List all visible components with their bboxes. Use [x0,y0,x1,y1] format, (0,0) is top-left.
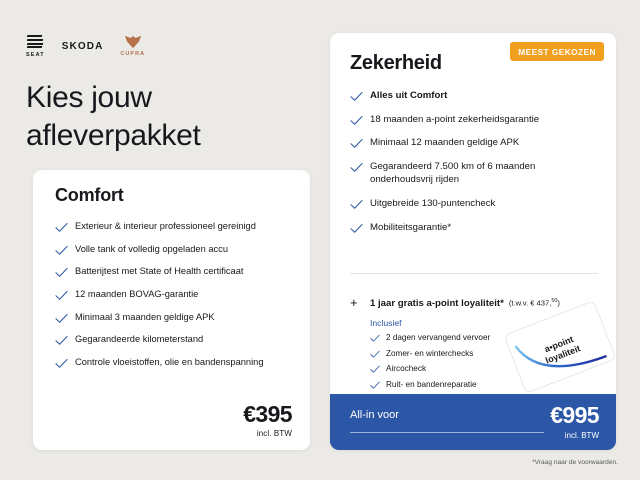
zekerheid-feature-list: Alles uit Comfort 18 maanden a-point zek… [350,89,600,244]
feature-label: Minimaal 3 maanden geldige APK [75,311,215,324]
check-icon [370,350,380,359]
zekerheid-price-note: incl. BTW [550,431,599,440]
check-icon [350,115,363,126]
list-item: Zomer- en winterchecks [370,349,550,360]
check-icon [350,91,363,102]
included-label: Aircocheck [386,364,426,375]
feature-label: Alles uit Comfort [370,89,447,103]
list-item: Alles uit Comfort [350,89,600,103]
list-item: Minimaal 3 maanden geldige APK [55,311,287,324]
bonus-value: (t.w.v. € 437,50) [509,298,560,308]
included-label: Ruit- en bandenreparatie [386,380,477,391]
feature-label: Exterieur & interieur professioneel gere… [75,220,256,233]
comfort-feature-list: Exterieur & interieur professioneel gere… [55,220,287,379]
included-list: 2 dagen vervangend vervoer Zomer- en win… [370,333,550,396]
check-icon [350,162,363,173]
feature-label: Volle tank of volledig opgeladen accu [75,243,228,256]
check-icon [370,381,380,390]
bonus-row: + 1 jaar gratis a-point loyaliteit* (t.w… [350,295,610,309]
allin-rule [350,432,544,433]
seat-wordmark: SEAT [26,52,45,58]
skoda-logo-icon: SKODA [62,41,104,52]
list-item: 18 maanden a-point zekerheidsgarantie [350,113,600,127]
check-icon [350,138,363,149]
list-item: Controle vloeistoffen, olie en bandenspa… [55,356,287,369]
feature-label: 12 maanden BOVAG-garantie [75,288,198,301]
zekerheid-price-block: €995 incl. BTW [550,404,599,440]
check-icon [55,335,68,346]
package-card-zekerheid[interactable]: MEEST GEKOZEN Zekerheid Alles uit Comfor… [330,33,616,450]
seat-logo-icon: SEAT [26,35,45,58]
included-label: Zomer- en winterchecks [386,349,473,360]
cupra-emblem-icon [124,35,142,49]
feature-label: Controle vloeistoffen, olie en bandenspa… [75,356,264,369]
skoda-wordmark: SKODA [62,41,104,52]
feature-label: Uitgebreide 130-puntencheck [370,197,495,211]
check-icon [55,290,68,301]
included-title: Inclusief [370,318,402,328]
list-item: 2 dagen vervangend vervoer [370,333,550,344]
plus-icon: + [350,296,363,309]
list-item: Aircocheck [370,364,550,375]
brand-logo-strip: SEAT SKODA CUPRA [26,33,145,59]
check-icon [370,334,380,343]
delivery-package-promo: SEAT SKODA CUPRA Kies jouw afleverpakket… [0,0,640,480]
section-divider [350,273,598,274]
list-item: Exterieur & interieur professioneel gere… [55,220,287,233]
check-icon [55,358,68,369]
comfort-price-note: incl. BTW [243,429,292,438]
list-item: Volle tank of volledig opgeladen accu [55,243,287,256]
list-item: Uitgebreide 130-puntencheck [350,197,600,211]
check-icon [55,267,68,278]
check-icon [55,313,68,324]
list-item: Batterijtest met State of Health certifi… [55,265,287,278]
feature-label: Gegarandeerd 7.500 km of 6 maanden onder… [370,160,600,187]
check-icon [55,245,68,256]
feature-label: Minimaal 12 maanden geldige APK [370,136,519,150]
package-card-comfort[interactable]: Comfort Exterieur & interieur profession… [33,170,310,450]
zekerheid-price: €995 [550,404,599,427]
bonus-value-prefix: (t.w.v. € 437, [509,299,552,308]
bonus-value-suffix: ) [557,299,560,308]
bonus-label: 1 jaar gratis a-point loyaliteit* [370,298,504,309]
feature-label: Gegarandeerde kilometerstand [75,333,203,346]
seat-emblem-icon [27,35,44,50]
comfort-price: €395 [243,403,292,426]
feature-label: Batterijtest met State of Health certifi… [75,265,243,278]
status-badge: MEEST GEKOZEN [510,42,604,61]
included-label: 2 dagen vervangend vervoer [386,333,490,344]
footnote: *Vraag naar de voorwaarden. [532,459,618,466]
list-item: Gegarandeerd 7.500 km of 6 maanden onder… [350,160,600,187]
list-item: Gegarandeerde kilometerstand [55,333,287,346]
list-item: Ruit- en bandenreparatie [370,380,550,391]
list-item: Mobiliteitsgarantie* [350,221,600,235]
check-icon [350,223,363,234]
cupra-logo-icon: CUPRA [120,35,145,57]
comfort-card-title: Comfort [55,185,124,206]
feature-label: Mobiliteitsgarantie* [370,221,451,235]
page-title: Kies jouw afleverpakket [26,79,306,155]
zekerheid-card-title: Zekerheid [350,52,442,75]
list-item: 12 maanden BOVAG-garantie [55,288,287,301]
allin-price-bar: All-in voor €995 incl. BTW [330,394,616,450]
allin-label: All-in voor [350,409,399,421]
check-icon [370,365,380,374]
feature-label: 18 maanden a-point zekerheidsgarantie [370,113,539,127]
list-item: Minimaal 12 maanden geldige APK [350,136,600,150]
cupra-wordmark: CUPRA [120,51,145,57]
check-icon [350,199,363,210]
check-icon [55,222,68,233]
comfort-price-block: €395 incl. BTW [243,403,292,438]
